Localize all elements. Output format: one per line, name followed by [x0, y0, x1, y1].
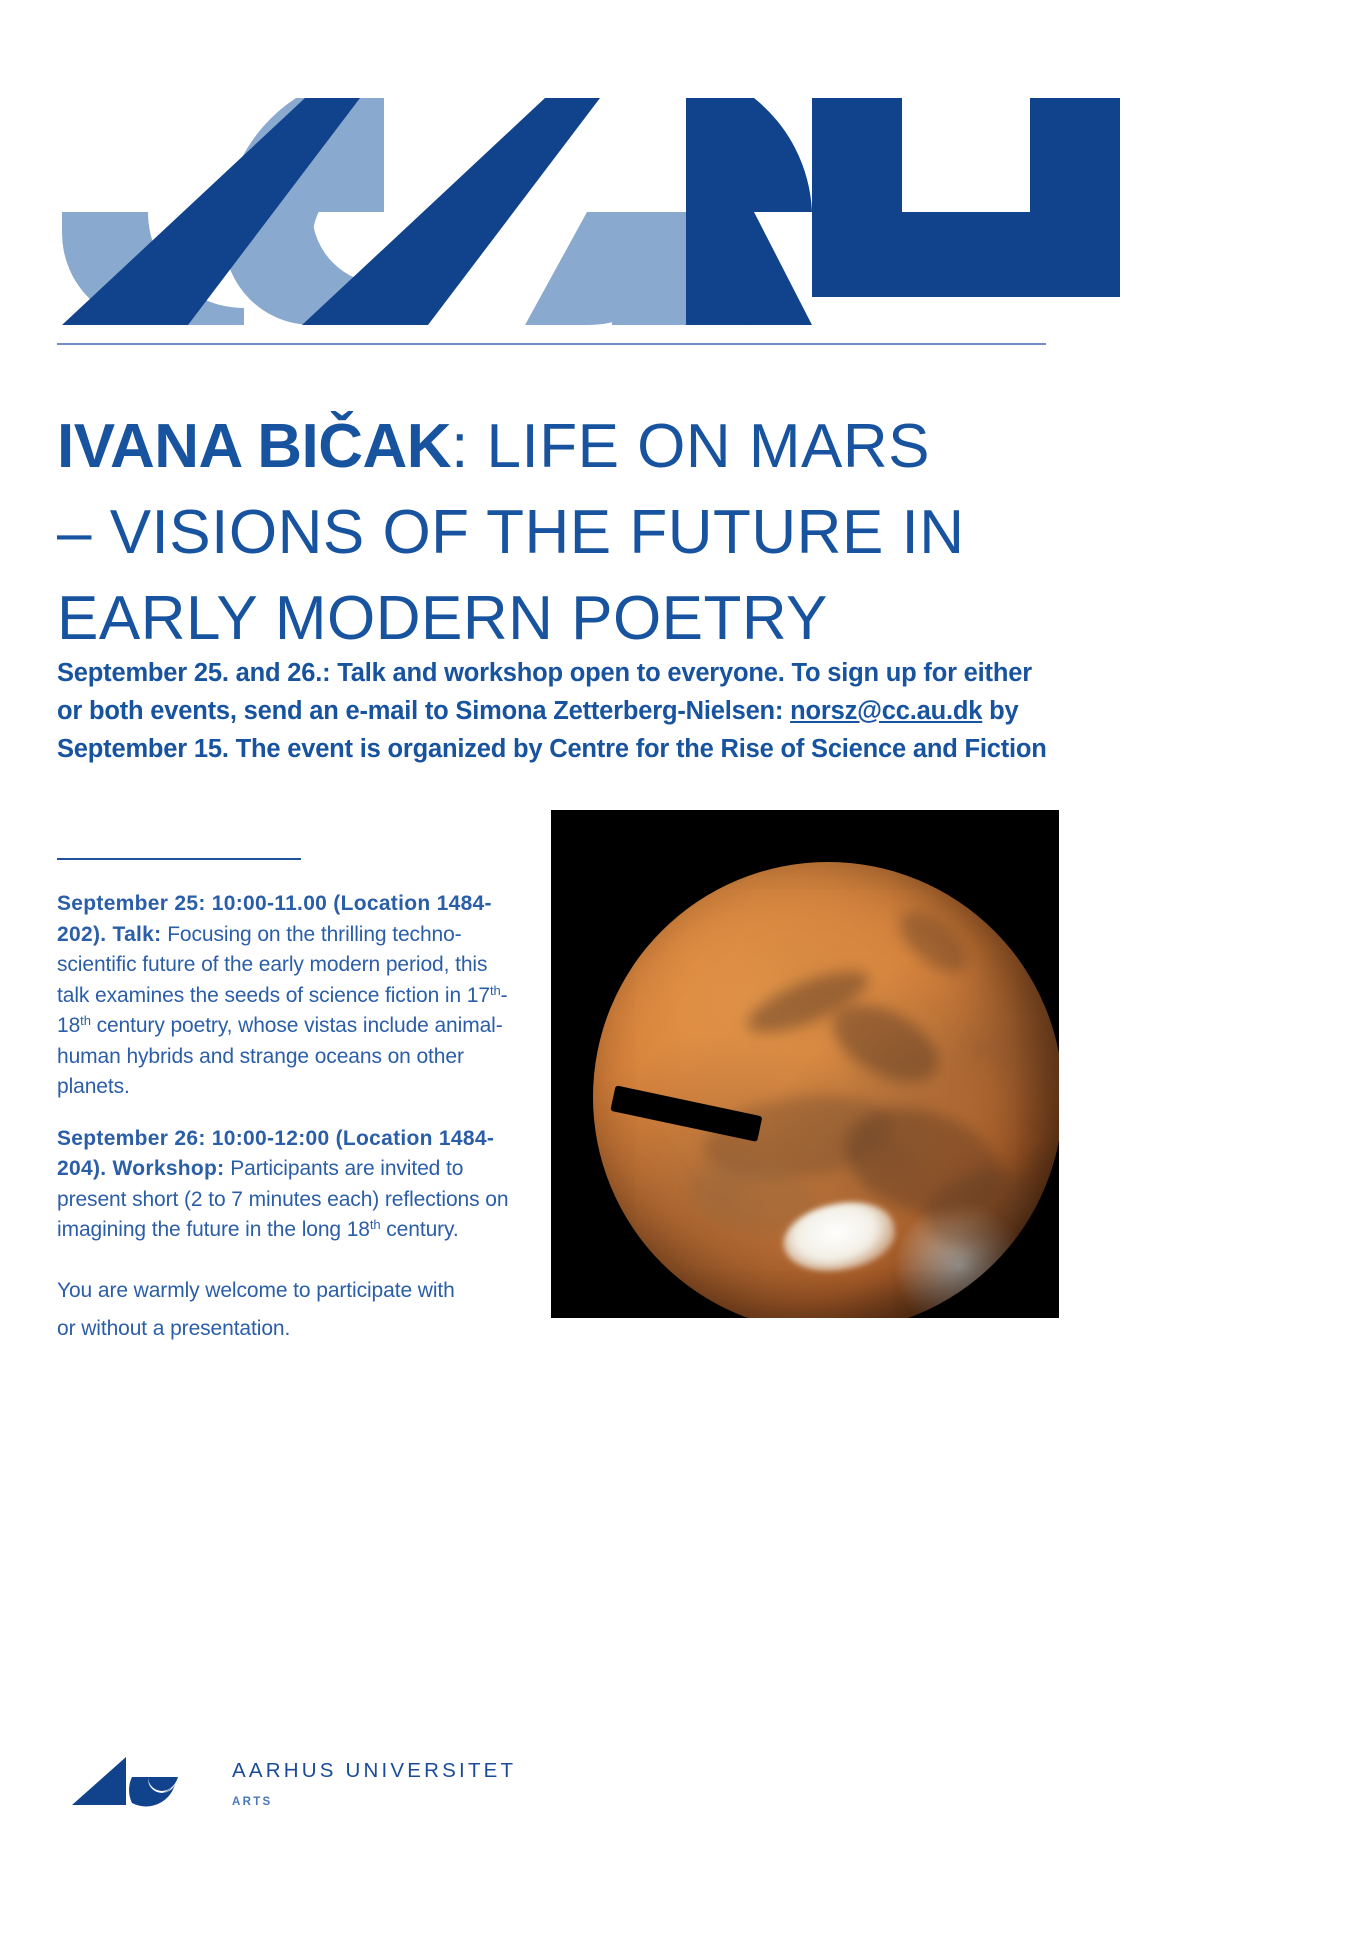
workshop-text-tail: century.: [381, 1218, 459, 1241]
mars-surface-mark: [890, 901, 977, 983]
au-header-graphic: [0, 40, 1370, 325]
title-line3: EARLY MODERN POETRY: [57, 584, 828, 653]
workshop-ordinal-18th: th: [370, 1217, 381, 1232]
talk-ordinal-18th: th: [80, 1013, 91, 1028]
email-link[interactable]: norsz@cc.au.dk: [790, 697, 982, 725]
closing-line-1: You are warmly welcome to participate wi…: [57, 1279, 455, 1302]
footer-text-block: AARHUS UNIVERSITET ARTS: [232, 1759, 516, 1808]
title-speaker-name: IVANA BIČAK: [57, 412, 451, 481]
mars-globe: [593, 862, 1059, 1318]
footer-logo: AARHUS UNIVERSITET ARTS: [70, 1755, 516, 1813]
programme-item-workshop: September 26: 10:00-12:00 (Location 1484…: [57, 1124, 517, 1246]
programme-column: September 25: 10:00-11.00 (Location 1484…: [57, 858, 517, 1348]
closing-note: You are warmly welcome to participate wi…: [57, 1272, 517, 1348]
intro-paragraph: September 25. and 26.: Talk and workshop…: [57, 654, 1057, 768]
page-title: IVANA BIČAK: LIFE ON MARS – VISIONS OF T…: [57, 404, 1067, 662]
talk-ordinal-17th: th: [490, 982, 501, 997]
talk-text-tail: century poetry, whose vistas include ani…: [57, 1014, 503, 1098]
title-subject-line1: LIFE ON MARS: [469, 412, 930, 481]
footer-university-name: AARHUS UNIVERSITET: [232, 1759, 516, 1783]
title-line2: – VISIONS OF THE FUTURE IN: [57, 498, 965, 567]
title-separator: :: [451, 412, 469, 481]
footer-faculty-name: ARTS: [232, 1796, 516, 1808]
closing-line-2: or without a presentation.: [57, 1317, 290, 1340]
programme-item-talk: September 25: 10:00-11.00 (Location 1484…: [57, 889, 517, 1103]
mars-planet-photo: [551, 810, 1059, 1318]
au-logo-mark: [70, 1755, 180, 1813]
column-divider: [57, 858, 301, 860]
title-divider: [57, 343, 1046, 345]
